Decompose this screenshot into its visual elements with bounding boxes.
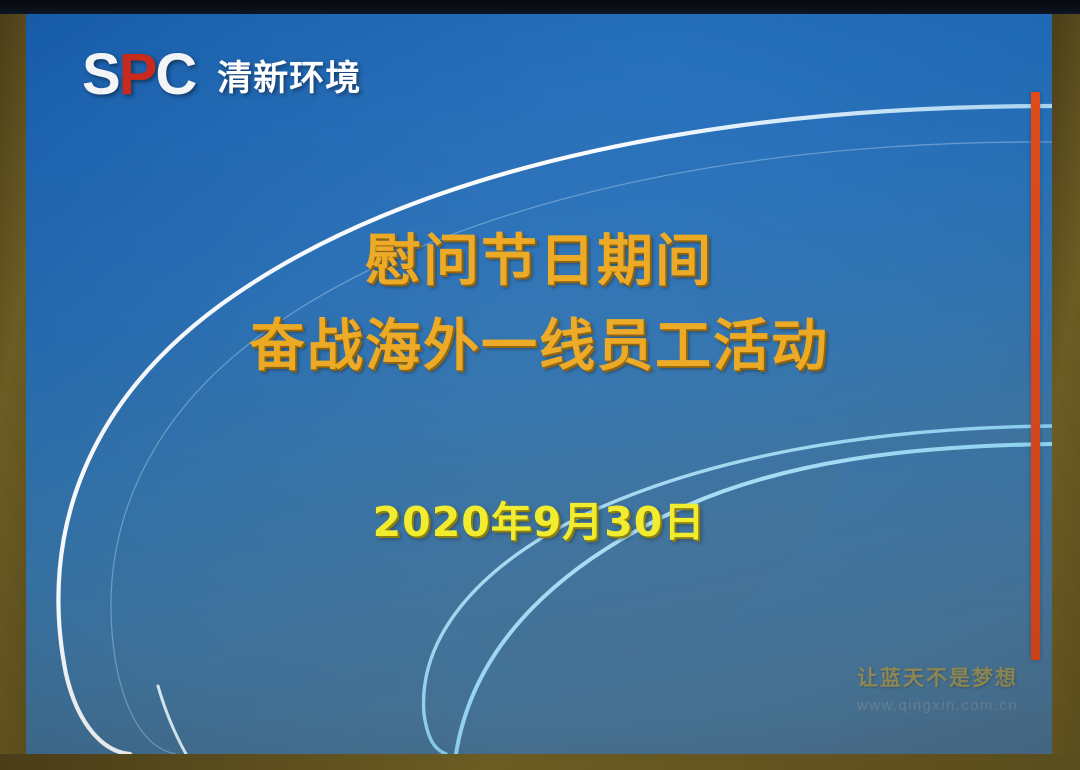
footer-url: www.qingxin.com.cn (857, 697, 1018, 714)
slide-title-line-1: 慰问节日期间 (26, 230, 1052, 295)
presentation-slide: SPC 清新环境 慰问节日期间 奋战海外一线员工活动 2020年9月30日 让蓝… (26, 14, 1052, 754)
swoosh-decoration (26, 14, 1052, 754)
wall-bottom-border (0, 754, 1080, 770)
footer-slogan: 让蓝天不是梦想 (857, 662, 1018, 692)
slide-date: 2020年9月30日 (26, 488, 1052, 548)
top-dark-band (0, 0, 1080, 14)
logo-letter-s: S (82, 42, 119, 107)
slide-title-block: 慰问节日期间 奋战海外一线员工活动 (26, 230, 1052, 380)
logo-letter-c: C (155, 42, 195, 107)
wall-left-border (0, 0, 26, 770)
photo-frame: SPC 清新环境 慰问节日期间 奋战海外一线员工活动 2020年9月30日 让蓝… (0, 0, 1080, 770)
slide-footer: 让蓝天不是梦想 www.qingxin.com.cn (857, 662, 1018, 714)
brand-logo: SPC 清新环境 (82, 46, 361, 104)
logo-spc-wordmark: SPC (82, 46, 195, 104)
logo-chinese-name: 清新环境 (217, 50, 361, 101)
highlight-streak (158, 686, 186, 754)
wall-right-border (1052, 0, 1080, 770)
logo-letter-p: P (119, 42, 156, 107)
slide-title-line-2: 奋战海外一线员工活动 (26, 315, 1052, 380)
